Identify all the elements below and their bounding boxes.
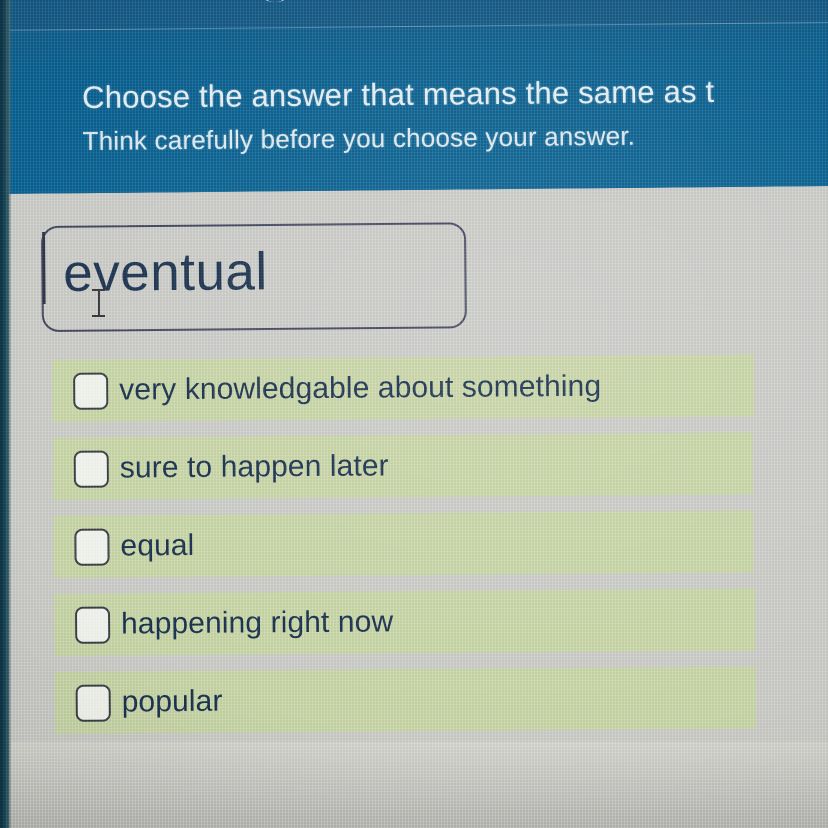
option-label: popular xyxy=(122,685,223,720)
option-label: very knowledgable about something xyxy=(119,370,601,408)
option-checkbox[interactable] xyxy=(74,528,109,565)
header-top-strip xyxy=(0,0,828,31)
instruction-line-2: Think carefully before you choose your a… xyxy=(82,122,714,154)
option-row[interactable]: sure to happen later xyxy=(53,432,753,499)
option-label: equal xyxy=(120,529,194,564)
option-label: sure to happen later xyxy=(120,449,389,485)
text-caret xyxy=(42,232,46,304)
option-label: happening right now xyxy=(121,605,393,641)
quiz-screenshot: Choose the answer that means the same as… xyxy=(0,0,828,828)
option-checkbox[interactable] xyxy=(74,450,109,487)
i-beam-cursor-icon xyxy=(92,288,105,318)
option-row[interactable]: very knowledgable about something xyxy=(52,354,754,422)
option-checkbox[interactable] xyxy=(76,684,111,721)
instruction-text: Choose the answer that means the same as… xyxy=(82,76,715,154)
option-checkbox[interactable] xyxy=(73,372,108,409)
option-row[interactable]: happening right now xyxy=(54,588,755,656)
site-logo-icon xyxy=(243,0,393,14)
page-bottom-area xyxy=(0,742,828,828)
instruction-line-1: Choose the answer that means the same as… xyxy=(82,76,714,113)
option-row[interactable]: popular xyxy=(54,666,755,734)
answer-options-list: very knowledgable about something sure t… xyxy=(52,354,757,734)
option-row[interactable]: equal xyxy=(53,510,753,577)
monitor-bezel-edge xyxy=(0,0,11,828)
option-checkbox[interactable] xyxy=(75,606,110,643)
